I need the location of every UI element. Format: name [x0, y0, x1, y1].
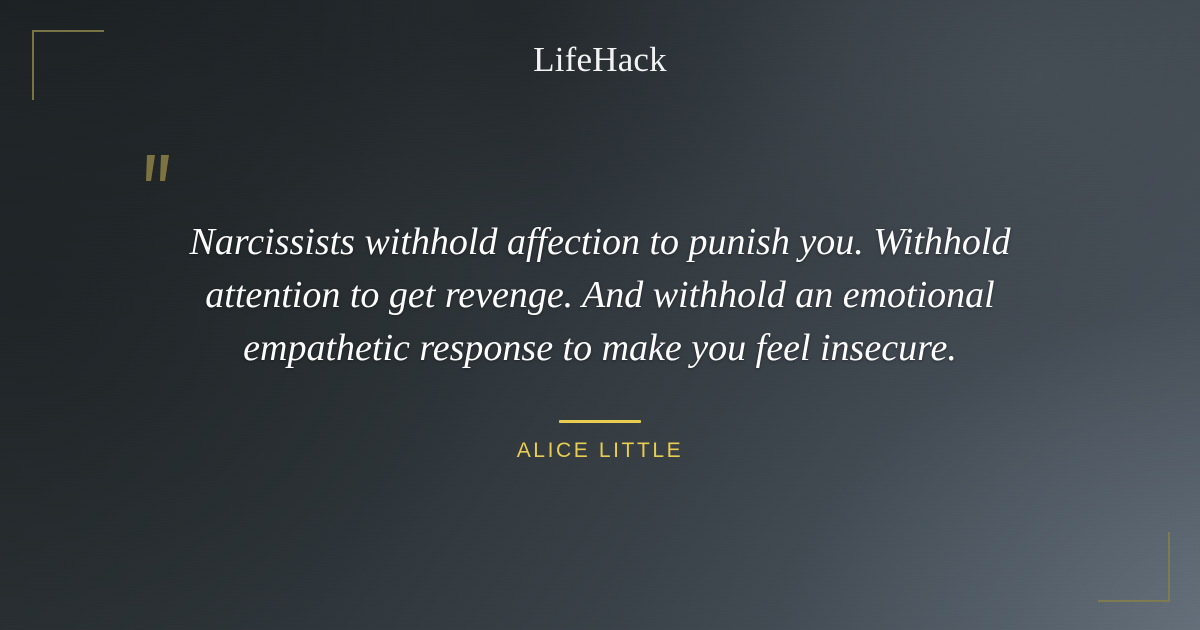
author-name: ALICE LITTLE [0, 438, 1200, 464]
quote-mark-icon [133, 133, 193, 193]
quote-line: attention to get revenge. And withhold a… [100, 269, 1100, 322]
quote-card: LifeHack Narcissists withhold affection … [0, 0, 1200, 630]
quote-text: Narcissists withhold affection to punish… [100, 216, 1100, 375]
brand-logo: LifeHack [0, 38, 1200, 82]
quote-line: Narcissists withhold affection to punish… [100, 216, 1100, 269]
quote-line: empathetic response to make you feel ins… [100, 322, 1100, 375]
divider [0, 410, 1200, 428]
corner-bracket-bottom-right-icon [1098, 532, 1170, 602]
divider-rule [559, 420, 641, 423]
